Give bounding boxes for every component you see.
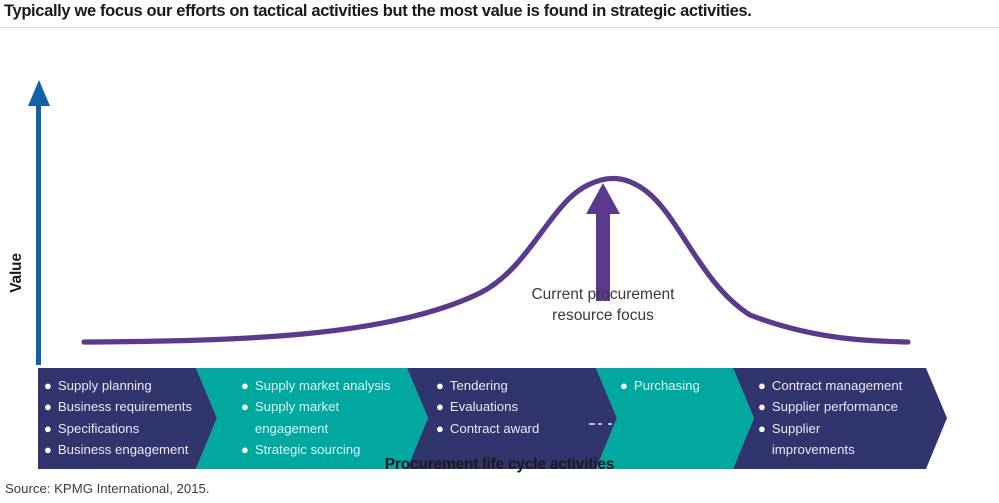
stage-item-label: Evaluations	[450, 396, 518, 417]
bullet-icon: ●	[241, 396, 249, 417]
stage-item-label: Supplier performance	[772, 396, 898, 417]
stage-item-label: Contract management	[772, 375, 902, 396]
lifecycle-stage-band: ● Supply planning ● Business requirement…	[0, 368, 999, 469]
bullet-icon: ●	[436, 375, 444, 396]
x-axis-label: Procurement life cycle activities	[0, 456, 999, 474]
stage-tender-items: ● Tendering ● Evaluations ● Contract awa…	[436, 368, 586, 469]
list-item: ● Supply market analysis	[241, 375, 409, 396]
bullet-icon: ●	[44, 396, 52, 417]
stage-item-label: Business requirements	[58, 396, 192, 417]
stage-purchase-items: ● Purchasing	[620, 368, 740, 469]
annotation-line-2: resource focus	[478, 305, 728, 326]
list-item: ● Contract award	[436, 418, 586, 439]
list-item: ● Supply planning	[44, 375, 204, 396]
bullet-icon: ●	[44, 418, 52, 439]
annotation-line-1: Current procurement	[478, 284, 728, 305]
stage-item-label: Supply market analysis	[255, 375, 391, 396]
bullet-icon: ●	[620, 375, 628, 396]
chart-plot-area: Value Current procurement resource focus	[0, 28, 999, 448]
stage-item-label: Supply planning	[58, 375, 152, 396]
stage-plan-items: ● Supply planning ● Business requirement…	[44, 368, 204, 469]
page-title: Typically we focus our efforts on tactic…	[4, 2, 999, 21]
list-item: ● Contract management	[758, 375, 928, 396]
list-item: ● Evaluations	[436, 396, 586, 417]
bullet-icon: ●	[758, 396, 766, 417]
stage-source-items: ● Supply market analysis ● Supply market…	[241, 368, 409, 469]
list-item: ● Specifications	[44, 418, 204, 439]
list-item: ● Tendering	[436, 375, 586, 396]
stage-item-label: Supply market engagement	[255, 396, 371, 439]
resource-focus-annotation: Current procurement resource focus	[478, 284, 728, 326]
bullet-icon: ●	[44, 375, 52, 396]
stage-manage-items: ● Contract management ● Supplier perform…	[758, 368, 928, 469]
stage-item-label: Supplier improvements	[772, 418, 852, 461]
bullet-icon: ●	[436, 396, 444, 417]
list-item: ● Supply market engagement	[241, 396, 409, 439]
source-note: Source: KPMG International, 2015.	[5, 481, 210, 496]
bullet-icon: ●	[241, 375, 249, 396]
list-item: ● Business requirements	[44, 396, 204, 417]
list-item: ● Supplier performance	[758, 396, 928, 417]
bullet-icon: ●	[758, 375, 766, 396]
list-item: ● Purchasing	[620, 375, 740, 396]
bullet-icon: ●	[758, 418, 766, 439]
stage-item-label: Purchasing	[634, 375, 700, 396]
y-axis-label: Value	[8, 228, 26, 318]
dash-artifact	[589, 422, 613, 426]
y-axis-arrow-icon	[28, 80, 50, 365]
list-item: ● Supplier improvements	[758, 418, 928, 461]
stage-item-label: Specifications	[58, 418, 139, 439]
bullet-icon: ●	[436, 418, 444, 439]
stage-item-label: Tendering	[450, 375, 508, 396]
stage-item-label: Contract award	[450, 418, 539, 439]
